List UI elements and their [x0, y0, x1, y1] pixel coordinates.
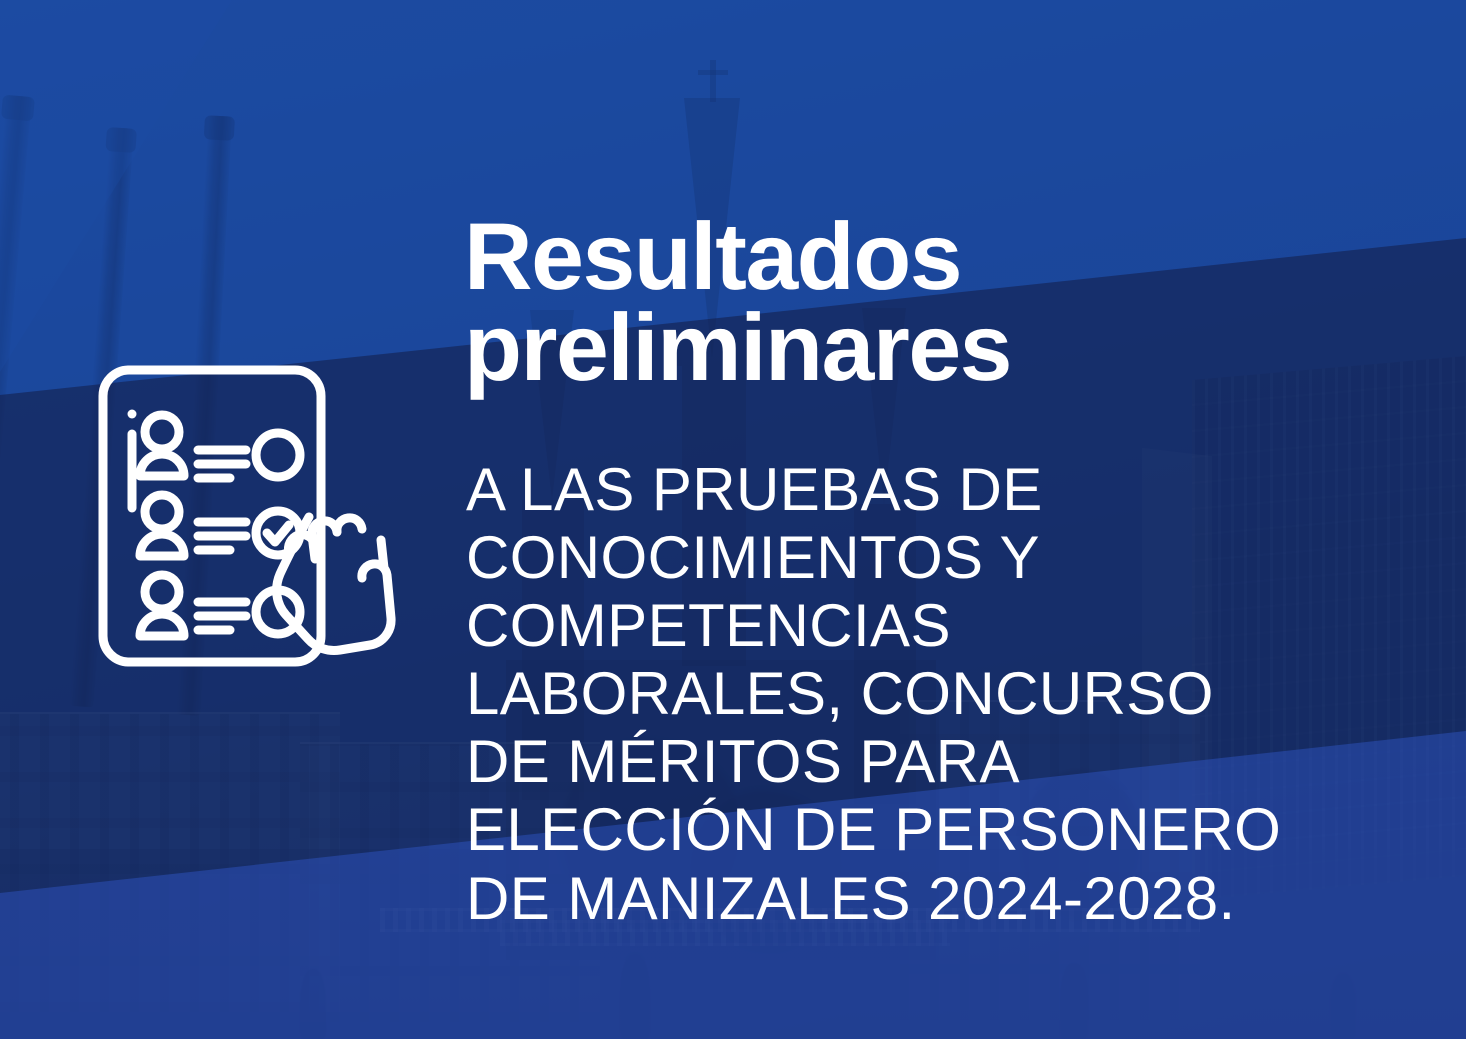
ballot-checklist-hand-icon [94, 360, 424, 672]
subtitle-text: A LAS PRUEBAS DE CONOCIMIENTOS Y COMPETE… [466, 456, 1416, 933]
poster-content: Resultados preliminares A LAS PRUEBAS DE… [0, 0, 1466, 1039]
poster-canvas: Resultados preliminares A LAS PRUEBAS DE… [0, 0, 1466, 1039]
page-title: Resultados preliminares [464, 212, 1404, 394]
